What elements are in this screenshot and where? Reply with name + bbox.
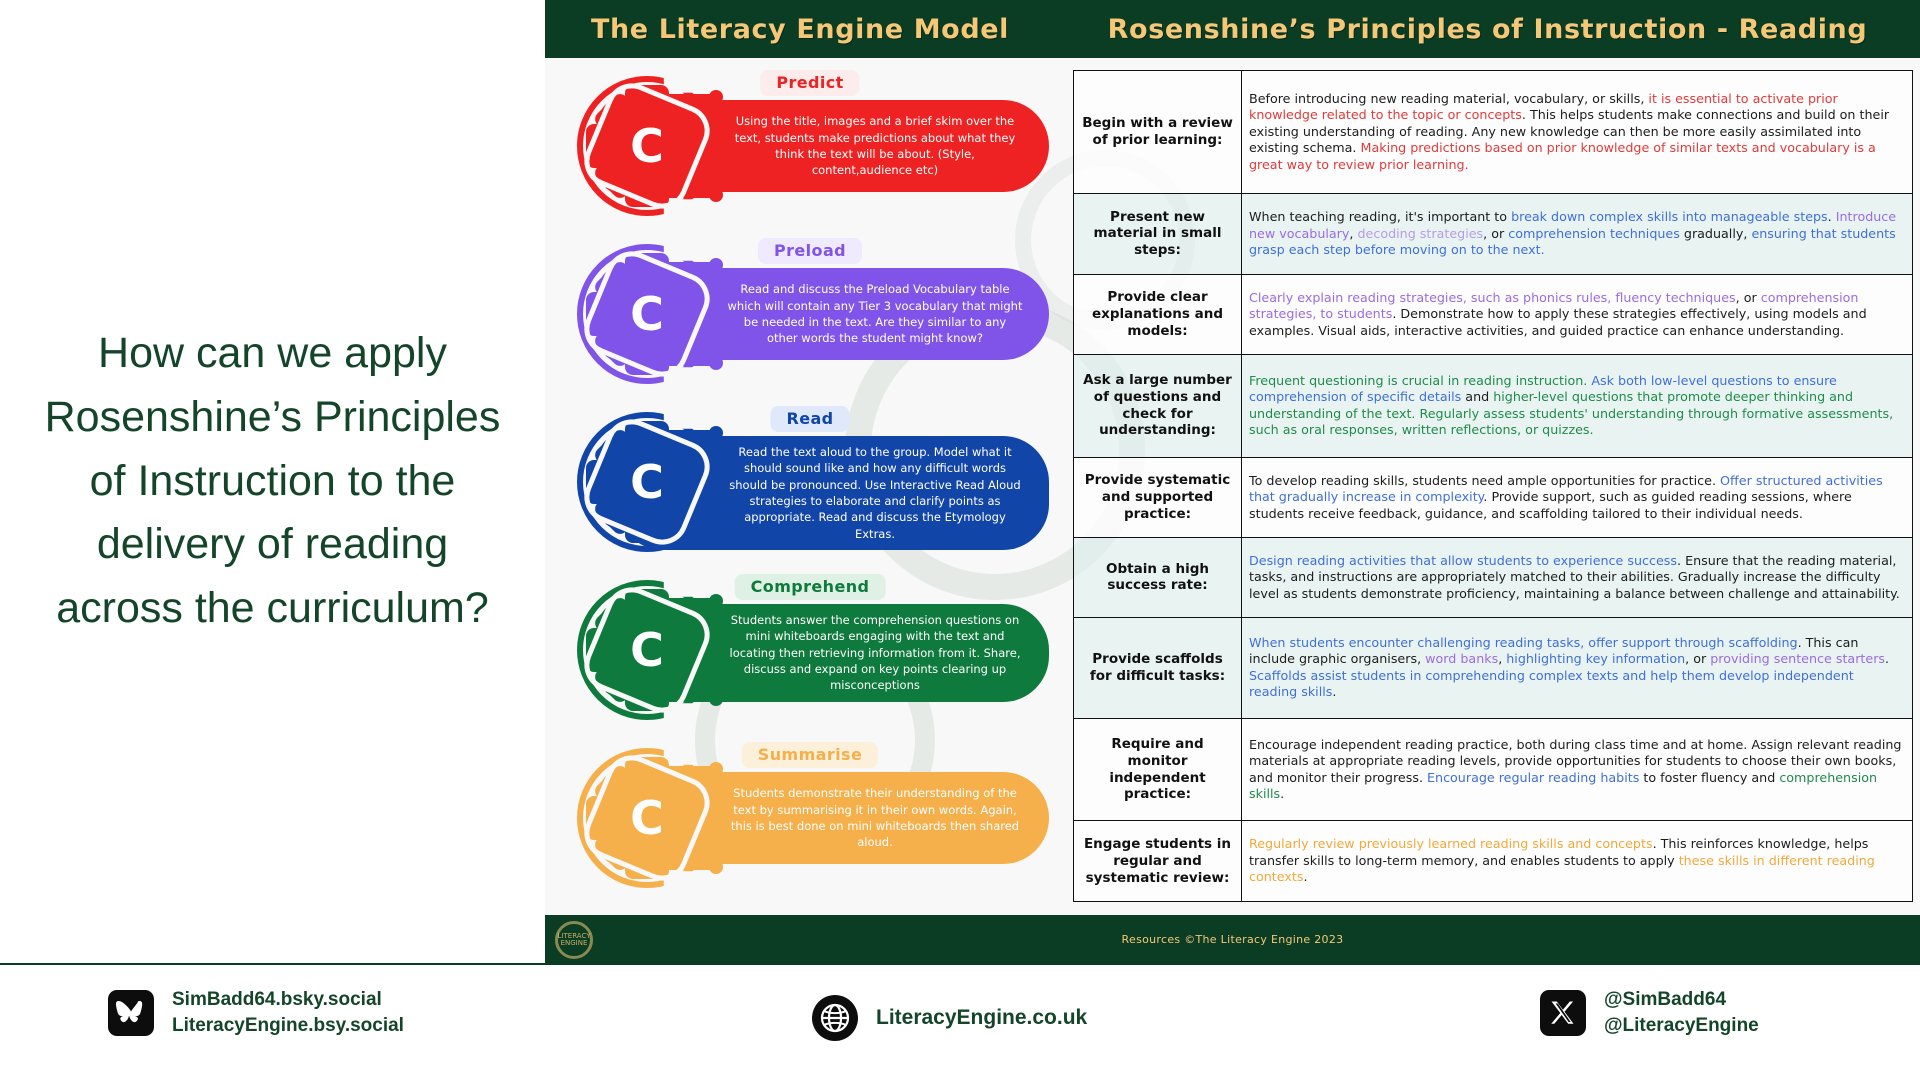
description-segment: Design reading activities that allow stu… <box>1249 553 1677 568</box>
principle-name: Begin with a review of prior learning: <box>1074 71 1242 194</box>
gear-icon: C <box>573 72 721 220</box>
question-panel: How can we apply Rosenshine’s Principles… <box>0 0 545 963</box>
social-link-x[interactable]: @SimBadd64 @LiteracyEngine <box>1540 987 1759 1038</box>
gear-icon: C <box>573 240 721 388</box>
description-segment: word banks <box>1425 651 1498 666</box>
description-segment: . <box>1828 209 1836 224</box>
description-segment: . <box>1885 651 1889 666</box>
literacy-engine-logo-icon: LITERACY ENGINE <box>555 921 593 959</box>
description-segment: Encourage regular reading habits <box>1427 770 1639 785</box>
model-step-label: Summarise <box>742 742 878 768</box>
gear-letter: C <box>573 240 721 388</box>
principle-description: Design reading activities that allow stu… <box>1242 538 1913 618</box>
description-segment: To develop reading skills, students need… <box>1249 473 1720 488</box>
description-segment: gradually, <box>1680 226 1752 241</box>
header-title-left: The Literacy Engine Model <box>545 14 1055 45</box>
principle-description: Frequent questioning is crucial in readi… <box>1242 355 1913 458</box>
copyright-credit: Resources ©The Literacy Engine 2023 <box>1122 933 1344 946</box>
principle-description: Regularly review previously learned read… <box>1242 821 1913 902</box>
description-segment: decoding strategies <box>1357 226 1483 241</box>
principle-description: Before introducing new reading material,… <box>1242 71 1913 194</box>
header-title-right: Rosenshine’s Principles of Instruction -… <box>1055 14 1920 45</box>
description-segment: , or <box>1685 651 1710 666</box>
principle-name: Provide scaffolds for difficult tasks: <box>1074 617 1242 718</box>
principle-name: Provide clear explanations and models: <box>1074 274 1242 355</box>
gear-letter: C <box>573 576 721 724</box>
bluesky-handle-2: LiteracyEngine.bsy.social <box>172 1013 404 1039</box>
x-handles: @SimBadd64 @LiteracyEngine <box>1604 987 1759 1038</box>
globe-icon <box>812 995 858 1041</box>
social-link-bluesky[interactable]: SimBadd64.bsky.social LiteracyEngine.bsy… <box>108 987 404 1038</box>
gear-letter: C <box>573 408 721 556</box>
x-handle-1: @SimBadd64 <box>1604 987 1759 1013</box>
description-segment: When students encounter challenging read… <box>1249 635 1798 650</box>
model-step-summarise: Students demonstrate their understanding… <box>555 734 1065 902</box>
description-segment: providing sentence starters <box>1710 651 1885 666</box>
bluesky-handle-1: SimBadd64.bsky.social <box>172 987 404 1013</box>
table-row: Provide systematic and supported practic… <box>1074 457 1913 538</box>
infographic-panel: The Literacy Engine Model Rosenshine’s P… <box>545 0 1920 963</box>
description-segment: break down complex skills into manageabl… <box>1511 209 1828 224</box>
description-segment: Regularly review previously learned read… <box>1249 836 1653 851</box>
bluesky-butterfly-icon <box>108 990 154 1036</box>
gear-icon: C <box>573 744 721 892</box>
model-step-predict: Using the title, images and a brief skim… <box>555 62 1065 230</box>
table-row: Begin with a review of prior learning:Be… <box>1074 71 1913 194</box>
model-step-preload: Read and discuss the Preload Vocabulary … <box>555 230 1065 398</box>
description-segment: and <box>1461 389 1493 404</box>
model-step-label: Comprehend <box>735 574 886 600</box>
question-heading: How can we apply Rosenshine’s Principles… <box>38 322 508 640</box>
description-segment: to foster fluency and <box>1639 770 1779 785</box>
description-segment: highlighting key information <box>1506 651 1685 666</box>
infographic-footer-strip: LITERACY ENGINE Resources ©The Literacy … <box>545 915 1920 963</box>
social-footer-bar: SimBadd64.bsky.social LiteracyEngine.bsy… <box>0 963 1920 1080</box>
description-segment: Scaffolds assist students in comprehendi… <box>1249 668 1854 700</box>
description-segment: comprehension techniques <box>1508 226 1680 241</box>
principle-name: Provide systematic and supported practic… <box>1074 457 1242 538</box>
principles-table-wrapper: Begin with a review of prior learning:Be… <box>1073 70 1913 902</box>
x-twitter-icon <box>1540 990 1586 1036</box>
principle-name: Obtain a high success rate: <box>1074 538 1242 618</box>
description-segment: , or <box>1483 226 1508 241</box>
literacy-engine-model-steps: Using the title, images and a brief skim… <box>555 62 1065 900</box>
poster-root: How can we apply Rosenshine’s Principles… <box>0 0 1920 1080</box>
principle-description: When teaching reading, it's important to… <box>1242 194 1913 275</box>
description-segment: . <box>1303 869 1307 884</box>
model-step-comprehend: Students answer the comprehension questi… <box>555 566 1065 734</box>
gear-letter: C <box>573 72 721 220</box>
table-row: Require and monitor independent practice… <box>1074 718 1913 821</box>
principle-description: Encourage independent reading practice, … <box>1242 718 1913 821</box>
model-step-label: Preload <box>758 238 862 264</box>
principle-description: Clearly explain reading strategies, such… <box>1242 274 1913 355</box>
table-row: Present new material in small steps:When… <box>1074 194 1913 275</box>
table-row: Provide clear explanations and models:Cl… <box>1074 274 1913 355</box>
description-segment: Before introducing new reading material,… <box>1249 91 1648 106</box>
gear-letter: C <box>573 744 721 892</box>
principle-name: Engage students in regular and systemati… <box>1074 821 1242 902</box>
gear-icon: C <box>573 576 721 724</box>
bluesky-handles: SimBadd64.bsky.social LiteracyEngine.bsy… <box>172 987 404 1038</box>
principle-name: Ask a large number of questions and chec… <box>1074 355 1242 458</box>
social-link-website[interactable]: LiteracyEngine.co.uk <box>812 995 1087 1041</box>
principle-name: Require and monitor independent practice… <box>1074 718 1242 821</box>
table-row: Ask a large number of questions and chec… <box>1074 355 1913 458</box>
website-url: LiteracyEngine.co.uk <box>876 1004 1087 1032</box>
description-segment: When teaching reading, it's important to <box>1249 209 1511 224</box>
principles-table: Begin with a review of prior learning:Be… <box>1073 70 1913 902</box>
description-segment: . <box>1332 684 1336 699</box>
principle-name: Present new material in small steps: <box>1074 194 1242 275</box>
description-segment: , or <box>1736 290 1761 305</box>
model-step-label: Predict <box>760 70 859 96</box>
table-row: Provide scaffolds for difficult tasks:Wh… <box>1074 617 1913 718</box>
principle-description: To develop reading skills, students need… <box>1242 457 1913 538</box>
description-segment: Clearly explain reading strategies, such… <box>1249 290 1736 305</box>
table-row: Obtain a high success rate:Design readin… <box>1074 538 1913 618</box>
description-segment: Frequent questioning is crucial in readi… <box>1249 373 1591 388</box>
model-step-label: Read <box>770 406 849 432</box>
principle-description: When students encounter challenging read… <box>1242 617 1913 718</box>
infographic-header: The Literacy Engine Model Rosenshine’s P… <box>545 0 1920 58</box>
description-segment: . <box>1280 786 1284 801</box>
x-handle-2: @LiteracyEngine <box>1604 1013 1759 1039</box>
gear-icon: C <box>573 408 721 556</box>
table-row: Engage students in regular and systemati… <box>1074 821 1913 902</box>
model-step-read: Read the text aloud to the group. Model … <box>555 398 1065 566</box>
